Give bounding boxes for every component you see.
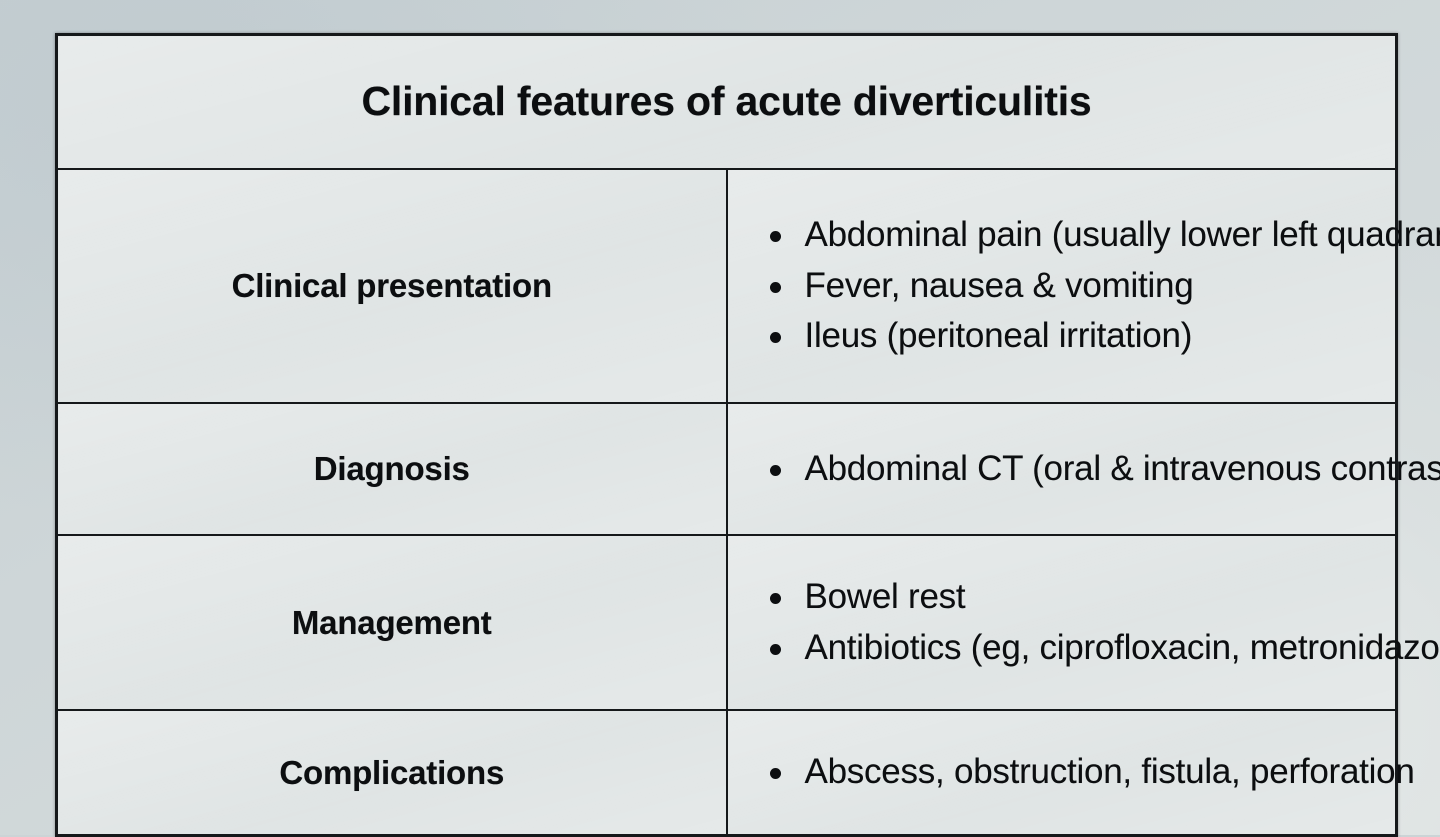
bullet-list: Abscess, obstruction, fistula, perforati… [728,747,1396,797]
row-content-clinical-presentation: Abdominal pain (usually lower left quadr… [727,169,1397,403]
table-row: Management Bowel rest Antibiotics (eg, c… [57,535,1397,710]
bullet-list: Abdominal CT (oral & intravenous contras… [728,444,1396,494]
row-label-management: Management [57,535,727,710]
list-item-text: Ileus (peritoneal irritation) [805,316,1193,355]
bullet-icon [770,768,781,779]
bullet-icon [770,465,781,476]
table-row: Diagnosis Abdominal CT (oral & intraveno… [57,403,1397,535]
row-label-text: Management [58,602,726,644]
bullet-icon [770,231,781,242]
list-item-text: Abdominal CT (oral & intravenous contras… [805,449,1440,488]
bullet-list: Bowel rest Antibiotics (eg, ciprofloxaci… [728,572,1396,673]
list-item: Abdominal pain (usually lower left quadr… [770,210,1380,260]
clinical-features-table: Clinical features of acute diverticuliti… [55,33,1398,837]
bullet-list: Abdominal pain (usually lower left quadr… [728,210,1396,361]
row-label-complications: Complications [57,710,727,836]
row-label-text: Clinical presentation [58,265,726,307]
table-row: Complications Abscess, obstruction, fist… [57,710,1397,836]
list-item: Antibiotics (eg, ciprofloxacin, metronid… [770,623,1380,673]
table-row: Clinical presentation Abdominal pain (us… [57,169,1397,403]
row-label-text: Diagnosis [58,448,726,490]
list-item: Abscess, obstruction, fistula, perforati… [770,747,1380,797]
bullet-icon [770,332,781,343]
row-content-diagnosis: Abdominal CT (oral & intravenous contras… [727,403,1397,535]
list-item-text: Abdominal pain (usually lower left quadr… [805,215,1440,254]
list-item: Abdominal CT (oral & intravenous contras… [770,444,1380,494]
list-item: Bowel rest [770,572,1380,622]
row-content-management: Bowel rest Antibiotics (eg, ciprofloxaci… [727,535,1397,710]
list-item: Fever, nausea & vomiting [770,261,1380,311]
slide-photo-frame: Clinical features of acute diverticuliti… [0,0,1440,835]
row-label-clinical-presentation: Clinical presentation [57,169,727,403]
bullet-icon [770,644,781,655]
bullet-icon [770,282,781,293]
bullet-icon [770,593,781,604]
list-item: Ileus (peritoneal irritation) [770,311,1380,361]
list-item-text: Antibiotics (eg, ciprofloxacin, metronid… [805,628,1440,667]
row-content-complications: Abscess, obstruction, fistula, perforati… [727,710,1397,836]
row-label-diagnosis: Diagnosis [57,403,727,535]
table-header-row: Clinical features of acute diverticuliti… [57,35,1397,170]
list-item-text: Bowel rest [805,577,966,616]
page-title: Clinical features of acute diverticuliti… [361,78,1091,124]
list-item-text: Fever, nausea & vomiting [805,266,1194,305]
table-title-cell: Clinical features of acute diverticuliti… [57,35,1397,170]
row-label-text: Complications [58,752,726,794]
list-item-text: Abscess, obstruction, fistula, perforati… [805,752,1415,791]
